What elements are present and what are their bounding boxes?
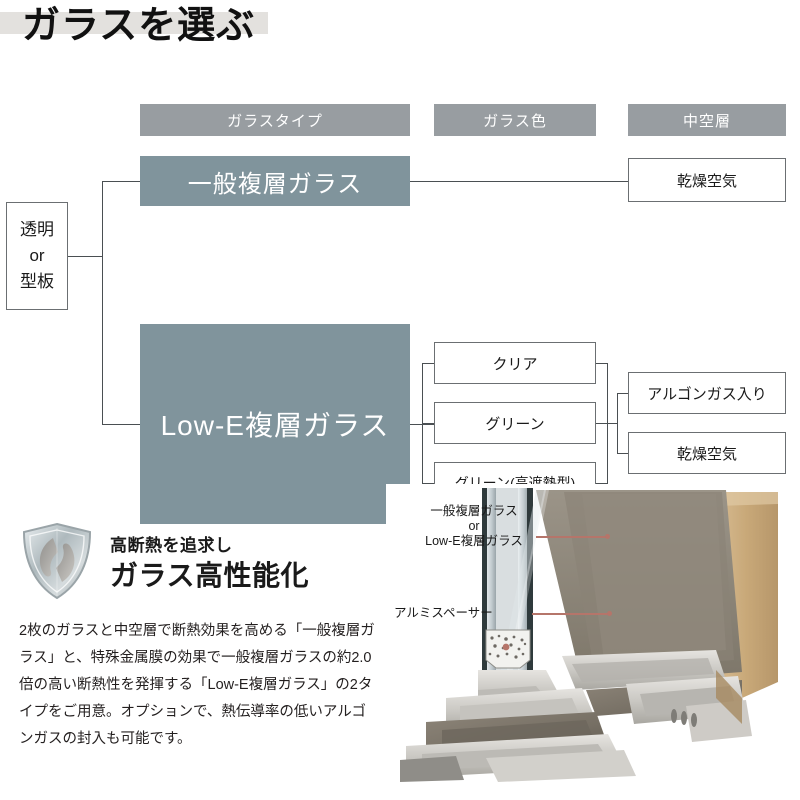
leader-dot-spacer: [607, 611, 612, 616]
column-header-glass-color: ガラス色: [434, 104, 596, 136]
glass-selection-flow-diagram: ガラスタイプ ガラス色 中空層 透明 or 型板 一般複層ガラス Low-E複層…: [0, 96, 800, 436]
callout-glass-line-2: or: [394, 519, 554, 534]
connector-to-dryair2: [617, 453, 628, 454]
column-header-air-gap: 中空層: [628, 104, 786, 136]
glass-type-box-pair: 一般複層ガラス: [140, 156, 410, 206]
connector-to-pair: [102, 181, 140, 182]
feature-subheading: 高断熱を追求し: [110, 531, 233, 556]
feature-body-text: 2枚のガラスと中空層で断熱効果を高める「一般複層ガラス」と、特殊金属膜の効果で一…: [19, 618, 379, 753]
source-line-3: 型板: [20, 269, 54, 295]
connector-to-argon: [617, 393, 628, 394]
connector-pair-to-dryair: [410, 181, 628, 182]
connector-to-clear: [422, 363, 434, 364]
connector-merge-stem: [607, 423, 617, 424]
glass-selection-page: ガラスを選ぶ ガラスタイプ ガラス色 中空層 透明 or 型板 一般複層ガラス …: [0, 0, 800, 800]
glass-colour-box-clear: クリア: [434, 342, 596, 384]
source-line-1: 透明: [20, 217, 54, 243]
connector-source-stem: [68, 256, 102, 257]
gap-fill-box-argon: アルゴンガス入り: [628, 372, 786, 414]
leader-line-glass: [536, 536, 608, 538]
column-header-glass-type: ガラスタイプ: [140, 104, 410, 136]
page-title: ガラスを選ぶ: [22, 4, 255, 48]
feature-block: 高断熱を追求し ガラス高性能化 2枚のガラスと中空層で断熱効果を高める「一般複層…: [0, 505, 390, 765]
connector-fill-brace: [617, 393, 618, 453]
connector-source-split: [102, 181, 103, 424]
gap-fill-box-dry-air-lowe: 乾燥空気: [628, 432, 786, 474]
window-section-photo-area: 一般複層ガラス or Low-E複層ガラス アルミスペーサー: [386, 484, 800, 784]
glass-colour-box-green: グリーン: [434, 402, 596, 444]
callout-glass-line-1: 一般複層ガラス: [394, 504, 554, 519]
leader-line-spacer: [532, 613, 610, 615]
callout-glass-unit: 一般複層ガラス or Low-E複層ガラス: [394, 504, 554, 549]
shield-emblem-icon: [20, 522, 94, 600]
gap-fill-box-dry-air-pair: 乾燥空気: [628, 158, 786, 202]
leader-dot-glass: [605, 534, 610, 539]
source-box-transparent-or-figured: 透明 or 型板: [6, 202, 68, 310]
connector-to-green: [422, 423, 434, 424]
source-line-2: or: [29, 243, 44, 269]
connector-to-lowe: [102, 424, 140, 425]
callout-glass-line-3: Low-E複層ガラス: [394, 534, 554, 549]
callout-aluminium-spacer: アルミスペーサー: [394, 606, 530, 621]
glass-type-box-lowe: Low-E複層ガラス: [140, 324, 410, 524]
feature-heading: ガラス高性能化: [110, 554, 309, 594]
